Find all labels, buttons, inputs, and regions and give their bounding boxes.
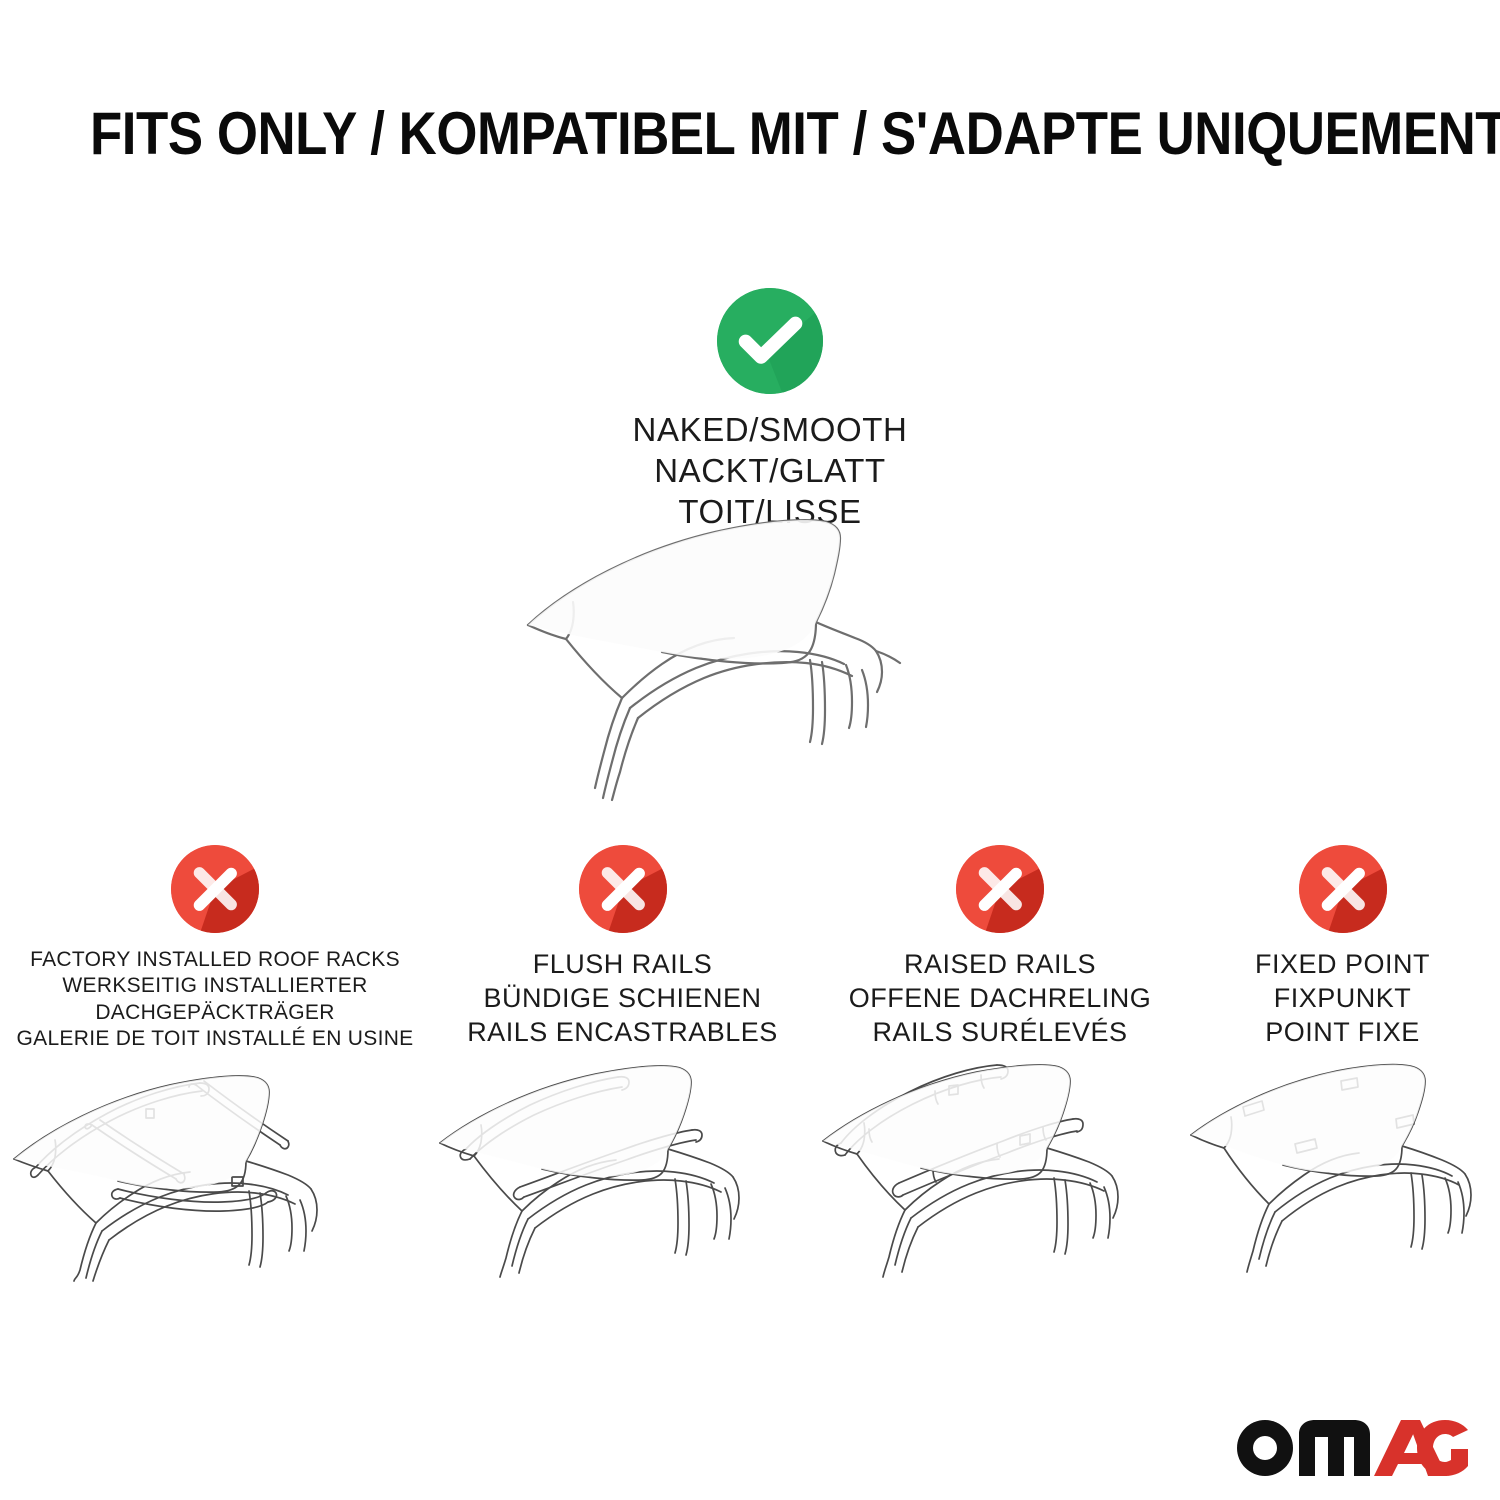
incompatible-roof-types: FACTORY INSTALLED ROOF RACKS WERKSEITIG … [0,845,1500,1315]
incompatible-item-raised-rails: RAISED RAILS OFFENE DACHRELING RAILS SUR… [815,845,1185,1278]
caption-line-2: FIXPUNKT [1185,981,1500,1015]
raised-rails-roof-illustration [815,1063,1185,1278]
caption-line-4: GALERIE DE TOIT INSTALLÉ EN USINE [0,1026,430,1052]
caption-line-1: FLUSH RAILS [430,947,815,981]
incompatible-caption-fixed-point: FIXED POINT FIXPUNKT POINT FIXE [1185,947,1500,1049]
caption-line-3: RAILS ENCASTRABLES [430,1015,815,1049]
incompatible-caption-factory-rack: FACTORY INSTALLED ROOF RACKS WERKSEITIG … [0,947,430,1053]
fixed-point-roof-illustration [1185,1063,1500,1278]
check-circle-icon [717,288,823,394]
incompatible-caption-flush-rails: FLUSH RAILS BÜNDIGE SCHIENEN RAILS ENCAS… [430,947,815,1049]
caption-line-2: OFFENE DACHRELING [815,981,1185,1015]
caption-line-1: FACTORY INSTALLED ROOF RACKS [0,947,430,973]
flush-rails-roof-illustration [430,1063,815,1278]
caption-line-3: DACHGEPÄCKTRÄGER [0,1000,430,1026]
compatible-roof-block: NAKED/SMOOTH NACKT/GLATT TOIT/LISSE [460,288,1080,533]
page-title: FITS ONLY / KOMPATIBEL MIT / S'ADAPTE UN… [90,104,1410,164]
bare-roof-illustration [510,512,1010,802]
x-circle-icon [1299,845,1387,933]
caption-line-3: RAILS SURÉLEVÉS [815,1015,1185,1049]
caption-line-2: BÜNDIGE SCHIENEN [430,981,815,1015]
caption-line-1: FIXED POINT [1185,947,1500,981]
caption-line-1: RAISED RAILS [815,947,1185,981]
incompatible-item-fixed-point: FIXED POINT FIXPUNKT POINT FIXE [1185,845,1500,1278]
compatibility-infographic: FITS ONLY / KOMPATIBEL MIT / S'ADAPTE UN… [0,0,1500,1500]
caption-line-3: POINT FIXE [1185,1015,1500,1049]
factory-rack-roof-illustration [0,1067,430,1282]
caption-line-2: WERKSEITIG INSTALLIERTER [0,973,430,999]
incompatible-caption-raised-rails: RAISED RAILS OFFENE DACHRELING RAILS SUR… [815,947,1185,1049]
compatible-caption-line-1: NAKED/SMOOTH [460,410,1080,451]
compatible-caption-line-2: NACKT/GLATT [460,451,1080,492]
x-circle-icon [171,845,259,933]
x-circle-icon [579,845,667,933]
omac-logo [1232,1408,1472,1480]
incompatible-item-flush-rails: FLUSH RAILS BÜNDIGE SCHIENEN RAILS ENCAS… [430,845,815,1278]
incompatible-item-factory-rack: FACTORY INSTALLED ROOF RACKS WERKSEITIG … [0,845,430,1282]
x-circle-icon [956,845,1044,933]
